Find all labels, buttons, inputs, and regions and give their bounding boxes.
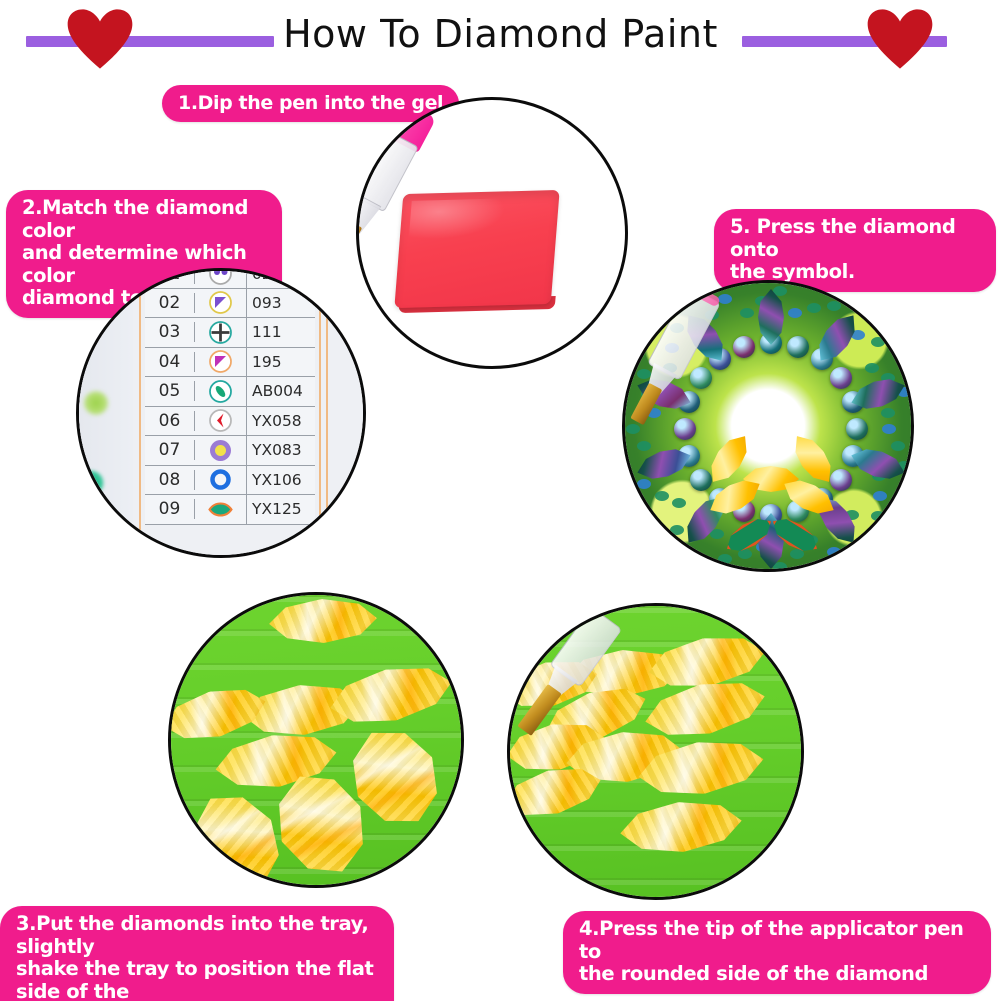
step-4-label: 4.Press the tip of the applicator pen to… [563,911,991,994]
canvas-printed-dot [871,337,885,347]
canvas-printed-dot [718,554,732,564]
canvas-round-gem [690,469,712,491]
step-4-label-line-1: 4.Press the tip of the applicator pen to [579,918,975,963]
color-chart-code: 195 [247,353,315,371]
canvas-printed-dot [871,511,885,521]
color-chart-table: 01 02802 09303 11104 19505 AB00406 YX058… [145,268,315,525]
color-chart-code: 111 [247,323,315,341]
canvas-printed-dot [672,498,686,508]
diamond-tray [510,606,801,897]
color-chart-row: 02 093 [145,289,315,319]
color-chart-symbol-double-dot-circle-icon [195,268,247,288]
blurred-teal-dot [77,470,105,496]
canvas-printed-dot [655,491,669,501]
color-chart-number: 07 [145,440,195,460]
yellow-marquise-diamond [618,796,745,858]
color-chart-number: 08 [145,470,195,490]
canvas-printed-dot [807,303,821,313]
gem-facets [168,679,271,749]
color-chart-number: 05 [145,381,195,401]
step-4-photo [507,603,804,900]
gem-facets [618,796,745,858]
canvas-printed-dot [873,491,887,501]
canvas-round-gem [674,418,696,440]
canvas-printed-dot [788,308,802,318]
canvas-printed-dot [637,441,651,451]
color-chart-symbol-plus-cross-icon [195,318,247,347]
yellow-marquise-diamond [177,777,298,888]
color-chart-code: YX083 [247,441,315,459]
color-chart-number: 04 [145,352,195,372]
chart-paper-margin [79,271,133,555]
step-5-label: 5. Press the diamond onto the symbol. [714,209,996,292]
chart-rule-right-a [319,271,321,555]
page-title: How To Diamond Paint [0,12,1001,56]
chart-rule-right-b [326,271,328,555]
canvas-round-gem [690,367,712,389]
step-3-label-line-2: shake the tray to position the flat side… [16,958,378,1001]
canvas-printed-dot [670,525,684,535]
canvas-printed-dot [881,408,895,418]
color-chart-number: 01 [145,268,195,284]
color-chart-row: 09 YX125 [145,495,315,525]
infographic-page: How To Diamond Paint 1.Dip the pen into … [0,0,1001,1001]
canvas-printed-dot [827,547,841,557]
color-chart-row: 04 195 [145,348,315,378]
color-chart-row: 01 028 [145,268,315,289]
canvas-round-gem [830,469,852,491]
canvas-printed-dot [882,424,896,434]
step-5-label-line-1: 5. Press the diamond onto [730,216,980,261]
color-chart-symbol-open-ring-icon [195,466,247,495]
color-chart-code: YX106 [247,471,315,489]
canvas-printed-dot [827,301,841,311]
color-chart-row: 03 111 [145,318,315,348]
step-3-photo [168,592,464,888]
step-3-label-line-1: 3.Put the diamonds into the tray, slight… [16,913,378,958]
chart-rule-left [139,271,141,555]
color-chart-symbol-filled-triangle-icon [195,348,247,377]
color-chart-symbol-left-chevron-icon [195,407,247,436]
color-chart-number: 09 [145,499,195,519]
step-4-label-line-2: the rounded side of the diamond [579,963,975,986]
step-5-photo [622,280,914,572]
color-chart-code: 028 [247,268,315,283]
color-chart-code: YX125 [247,500,315,518]
diamond-tray [171,595,461,885]
color-chart-number: 02 [145,293,195,313]
gem-facets [268,596,378,646]
canvas-printed-dot [637,479,651,489]
color-chart-code: YX058 [247,412,315,430]
color-chart-symbol-leaf-eye-icon [195,495,247,524]
color-chart-row: 05 AB004 [145,377,315,407]
color-chart-code: AB004 [247,382,315,400]
pen-tip [517,684,561,736]
step-2-label-line-1: 2.Match the diamond color [22,197,266,242]
canvas-round-gem [787,336,809,358]
step-3-label: 3.Put the diamonds into the tray, slight… [0,906,394,1001]
canvas-round-gem [733,336,755,358]
step-2-photo: 01 02802 09303 11104 19505 AB00406 YX058… [76,268,366,558]
step-1-photo [356,97,628,369]
color-chart-row: 07 YX083 [145,436,315,466]
canvas-printed-dot [865,363,879,373]
yellow-marquise-diamond [268,596,378,646]
gem-facets [177,777,298,888]
canvas-round-gem [846,418,868,440]
color-chart-row: 08 YX106 [145,466,315,496]
canvas-printed-dot [790,549,804,559]
page-header: How To Diamond Paint [0,0,1001,80]
gel-pad [394,190,559,308]
canvas-printed-dot [891,441,905,451]
yellow-marquise-diamond [168,679,271,749]
pen-tip [630,383,662,425]
color-chart-symbol-filled-triangle-icon [195,289,247,318]
color-chart-code: 093 [247,294,315,312]
color-chart-number: 03 [145,322,195,342]
blurred-green-dot [83,391,109,415]
color-chart-symbol-slanted-oval-icon [195,377,247,406]
color-chart-number: 06 [145,411,195,431]
canvas-printed-dot [740,308,754,318]
canvas-round-gem [830,367,852,389]
color-chart-row: 06 YX058 [145,407,315,437]
color-chart-symbol-dot-in-ring-icon [195,436,247,465]
canvas-printed-dot [626,424,640,434]
